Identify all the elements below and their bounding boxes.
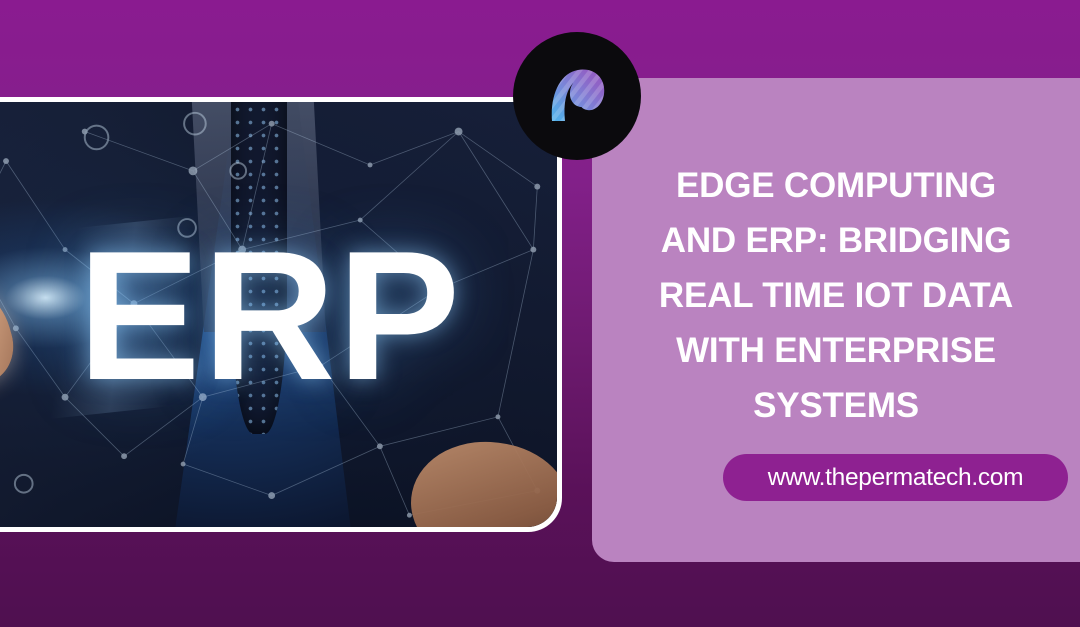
headline-line-4: WITH ENTERPRISE: [676, 331, 996, 370]
page-title: EDGE COMPUTING AND ERP: BRIDGING REAL TI…: [606, 158, 1066, 433]
website-url-text: www.thepermatech.com: [768, 464, 1023, 492]
website-url-badge[interactable]: www.thepermatech.com: [723, 454, 1068, 501]
featured-image: ERP: [0, 102, 557, 527]
headline-line-1: EDGE COMPUTING: [676, 166, 996, 205]
permatech-logo-icon: [540, 59, 614, 133]
headline-line-2: AND ERP: BRIDGING: [661, 221, 1012, 260]
headline-line-3: REAL TIME IOT DATA: [659, 276, 1013, 315]
permatech-logo[interactable]: [513, 32, 641, 160]
erp-overlay-text: ERP: [78, 223, 462, 407]
featured-image-card: ERP: [0, 97, 562, 532]
index-finger: [0, 271, 23, 399]
poster-canvas: ERP EDGE COMPUTING AND ERP: BRIDGING REA…: [0, 0, 1080, 627]
headline-line-5: SYSTEMS: [753, 386, 919, 425]
content-panel: EDGE COMPUTING AND ERP: BRIDGING REAL TI…: [592, 78, 1080, 562]
